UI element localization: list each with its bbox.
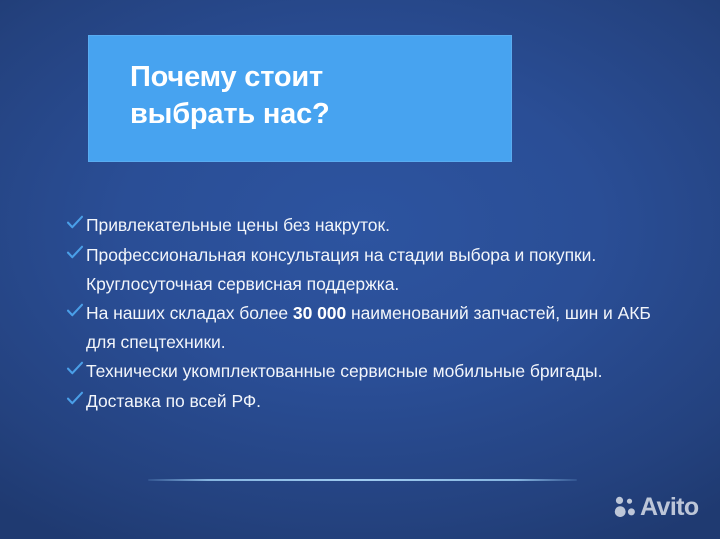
stock-count-value: 30 000 xyxy=(293,303,346,323)
avito-dots-icon xyxy=(612,494,638,520)
check-icon xyxy=(64,242,86,271)
list-item: Технически укомплектованные сервисные мо… xyxy=(64,357,674,387)
list-item: Привлекательные цены без накруток. xyxy=(64,211,674,241)
check-icon xyxy=(64,388,86,417)
check-icon xyxy=(64,358,86,387)
list-item-text-before: На наших складах более xyxy=(86,303,293,323)
title-block: Почему стоит выбрать нас? xyxy=(88,35,512,162)
check-icon xyxy=(64,300,86,329)
avito-wordmark: Avito xyxy=(640,494,699,520)
divider xyxy=(148,479,577,481)
avito-watermark: Avito xyxy=(612,494,699,520)
benefits-list: Привлекательные цены без накруток. Профе… xyxy=(64,211,674,417)
slide-canvas: Почему стоит выбрать нас? Привлекательны… xyxy=(0,0,720,539)
list-item: Доставка по всей РФ. xyxy=(64,387,674,417)
page-title: Почему стоит выбрать нас? xyxy=(130,59,490,132)
list-item-label: Доставка по всей РФ. xyxy=(86,387,674,416)
list-item-label: Привлекательные цены без накруток. xyxy=(86,211,674,240)
check-icon xyxy=(64,212,86,241)
list-item: На наших складах более 30 000 наименован… xyxy=(64,299,674,357)
list-item-label: Профессиональная консультация на стадии … xyxy=(86,241,674,299)
list-item: Профессиональная консультация на стадии … xyxy=(64,241,674,299)
list-item-label: Технически укомплектованные сервисные мо… xyxy=(86,357,674,386)
list-item-label: На наших складах более 30 000 наименован… xyxy=(86,299,674,357)
